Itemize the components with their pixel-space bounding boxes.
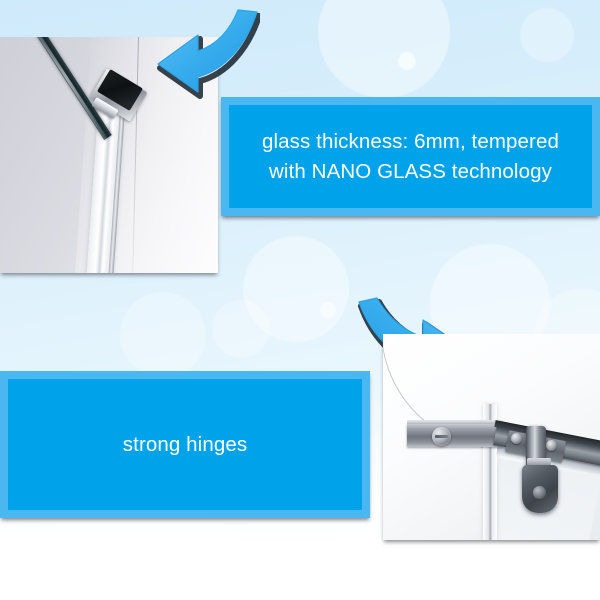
hinge-bolt-lower	[546, 440, 557, 451]
background-bubble	[212, 300, 270, 358]
glass-thickness-callout-text: glass thickness: 6mm, tempered with NANO…	[256, 127, 565, 185]
background-bubble	[398, 52, 416, 70]
glass-thickness-callout-inner: glass thickness: 6mm, tempered with NANO…	[229, 105, 592, 208]
glass-thickness-callout-box: glass thickness: 6mm, tempered with NANO…	[221, 97, 600, 216]
background-bubble	[320, 302, 336, 318]
glass-callout-line-1: glass thickness: 6mm, tempered	[262, 130, 559, 153]
glass-callout-line-2: with NANO GLASS technology	[269, 160, 552, 183]
background-bubble	[520, 8, 574, 62]
background-bubble	[120, 292, 206, 378]
strong-hinges-callout-box: strong hinges	[0, 371, 370, 518]
hinge-rail-left	[407, 424, 503, 447]
feature-panel: glass thickness: 6mm, tempered with NANO…	[0, 0, 600, 600]
strong-hinges-callout-inner: strong hinges	[8, 379, 362, 510]
hinge-large-screw	[432, 427, 451, 446]
hinge-bolt-upper	[511, 433, 522, 444]
hinge-lower-pin	[533, 486, 546, 499]
shower-door-hinge-hardware-photo	[383, 334, 600, 540]
strong-hinges-callout-text: strong hinges	[117, 430, 253, 459]
curved-arrow-down-left-icon	[128, 8, 260, 108]
